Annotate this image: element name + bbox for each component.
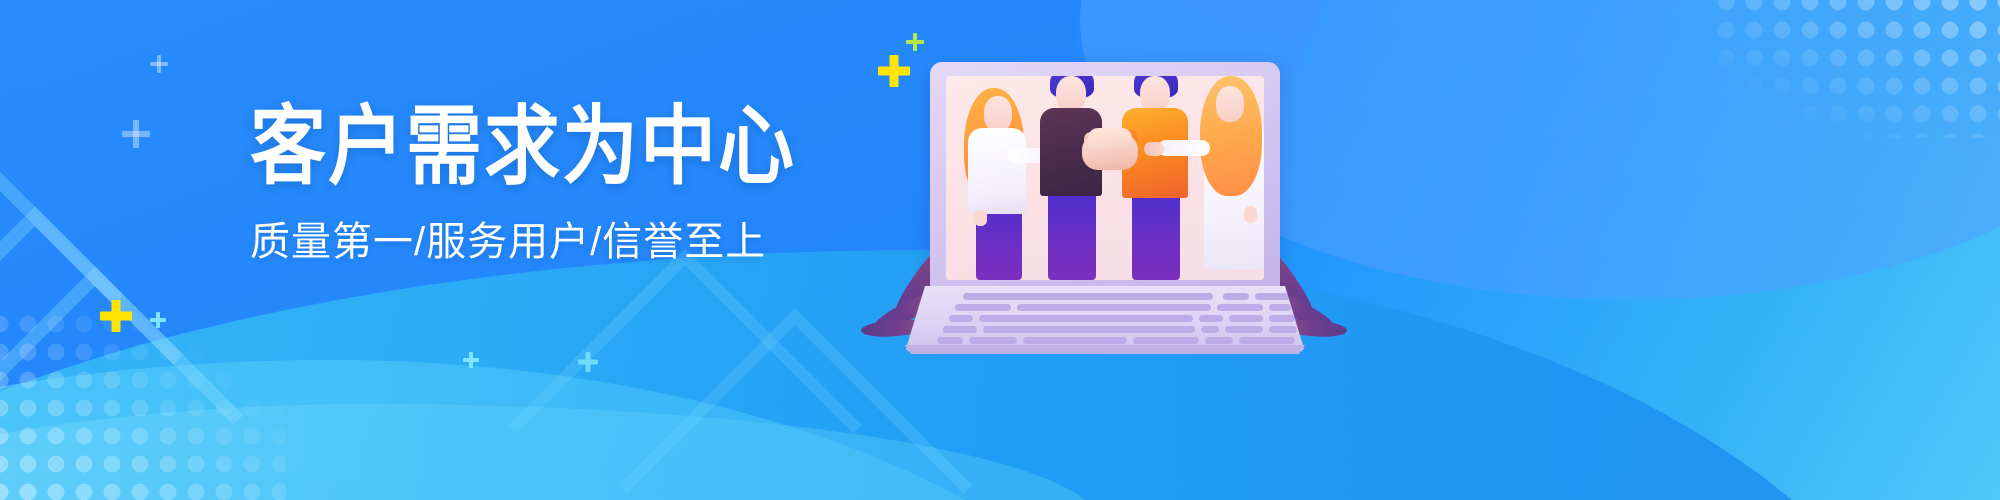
keyboard-key [963,293,1213,300]
keyboard-key [1201,326,1219,333]
marketing-banner: 客户需求为中心 质量第一/服务用户/信誉至上 [0,0,2000,500]
keyboard-key [943,326,977,333]
keyboard-key [1133,337,1199,344]
keyboard-key [1229,315,1263,322]
laptop-screen [946,76,1264,280]
headline-block: 客户需求为中心 质量第一/服务用户/信誉至上 [250,104,810,262]
keyboard-key [1223,293,1249,300]
person-man-dark-shirt [1034,76,1112,280]
person-woman-right [1192,76,1264,280]
person-woman-left [960,84,1040,280]
laptop-base-lip [905,345,1305,354]
plus-white-small-top-icon [150,55,168,73]
plus-yellow-large-bottom-left-icon [100,300,132,332]
keyboard-key [955,304,1011,311]
keyboard-key [983,326,1195,333]
plus-green-small-top-right-icon [906,33,924,51]
plus-white-medium-left-icon [122,120,150,148]
keyboard-key [1225,326,1263,333]
keyboard-key [937,337,963,344]
plus-cyan-small-bottom-left-icon [150,312,166,328]
keyboard-key [1205,337,1233,344]
laptop-base [905,286,1305,352]
keyboard-key [979,315,1193,322]
keyboard-key [1239,337,1295,344]
keyboard-key [1017,304,1211,311]
laptop-lid [930,62,1280,290]
keyboard-key [949,315,973,322]
keyboard-key [1023,337,1127,344]
plus-cyan-small-bottom-mid-icon [463,352,479,368]
page-subtitle: 质量第一/服务用户/信誉至上 [250,222,810,262]
keyboard-key [969,337,1017,344]
keyboard-key [1269,315,1295,322]
keyboard-key [1269,304,1291,311]
laptop-team-illustration [905,62,1305,352]
keyboard-key [1217,304,1263,311]
plus-cyan-mid-bottom-icon [578,352,598,372]
keyboard-key [1255,293,1291,300]
joined-hands-upper [1088,128,1132,148]
person-man-orange-jacket [1116,76,1196,280]
keyboard-key [1269,326,1297,333]
keyboard-key [1199,315,1223,322]
page-title: 客户需求为中心 [250,104,810,191]
